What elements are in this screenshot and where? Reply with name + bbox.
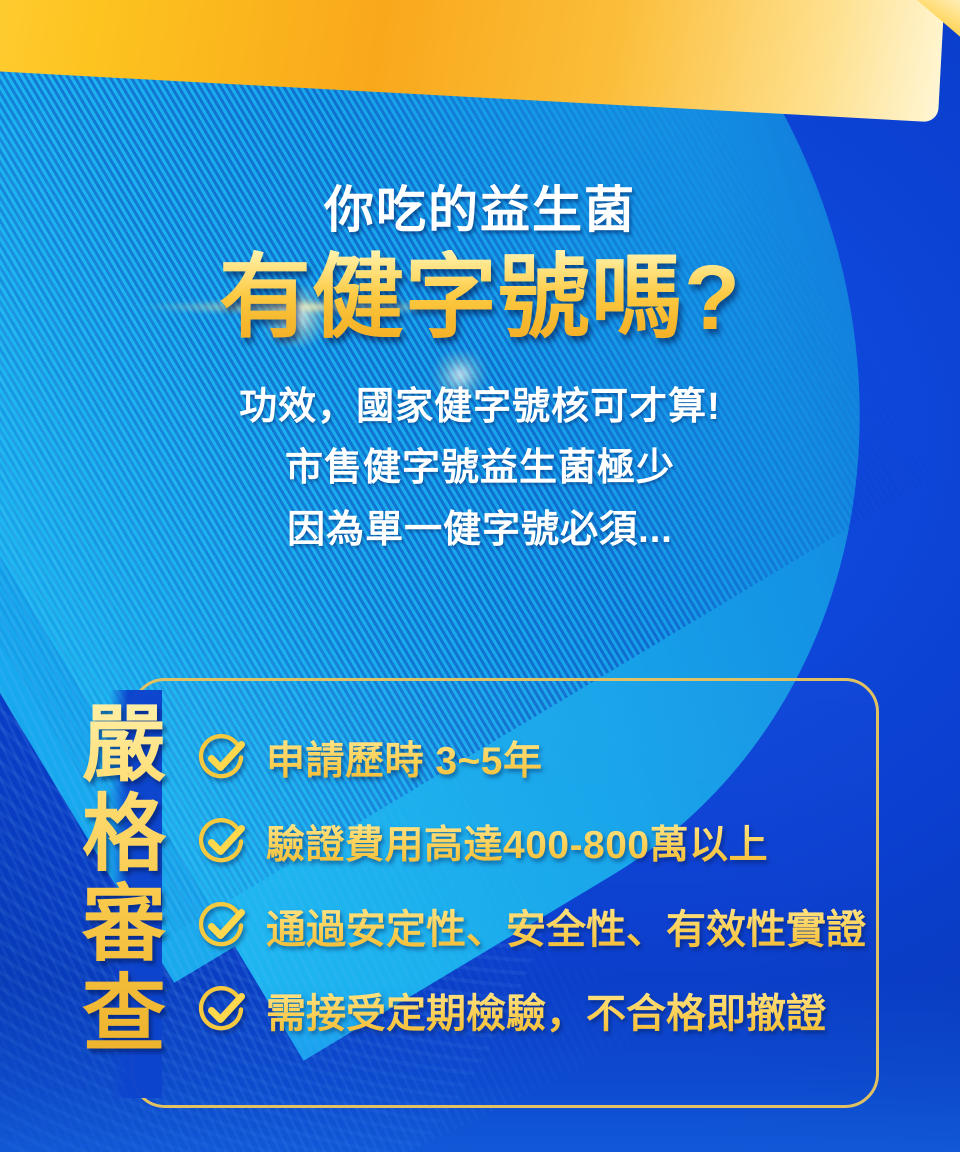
headline-block: 你吃的益生菌 有健字號嗎? 功效，國家健字號核可才算! 市售健字號益生菌極少 因… [0, 182, 960, 561]
check-circle-icon [196, 983, 250, 1037]
gold-corner-flash-decoration [898, 0, 960, 40]
subtitle-line-2: 市售健字號益生菌極少 [0, 438, 960, 500]
list-item: 通過安定性、安全性、有效性實證 [196, 884, 866, 968]
check-circle-icon [196, 899, 250, 953]
subtitle-line-3: 因為單一健字號必須... [0, 500, 960, 562]
check-circle-icon [196, 731, 250, 785]
list-item-label: 申請歷時 3~5年 [266, 730, 543, 786]
vertical-label-strict-review: 嚴 格 審 查 [68, 700, 180, 1060]
gold-band-decoration [0, 0, 949, 122]
check-circle-icon [196, 815, 250, 869]
list-item: 驗證費用高達400-800萬以上 [196, 800, 866, 884]
list-item-label: 需接受定期檢驗，不合格即撤證 [266, 981, 826, 1039]
criteria-list: 申請歷時 3~5年 驗證費用高達400-800萬以上 通過安定性、安全性、有效性… [196, 716, 866, 1052]
list-item: 需接受定期檢驗，不合格即撤證 [196, 968, 866, 1052]
subtitle-block: 功效，國家健字號核可才算! 市售健字號益生菌極少 因為單一健字號必須... [0, 377, 960, 562]
headline-hero: 有健字號嗎? [0, 250, 960, 347]
list-item-label: 驗證費用高達400-800萬以上 [266, 814, 768, 870]
subtitle-line-1: 功效，國家健字號核可才算! [0, 377, 960, 439]
vertical-label-char-4: 查 [68, 970, 180, 1060]
list-item: 申請歷時 3~5年 [196, 716, 866, 800]
list-item-label: 通過安定性、安全性、有效性實證 [266, 897, 866, 955]
gold-band-highlight-decoration [0, 0, 949, 120]
vertical-label-char-3: 審 [68, 880, 180, 970]
vertical-label-char-1: 嚴 [68, 700, 180, 790]
promo-poster: 你吃的益生菌 有健字號嗎? 功效，國家健字號核可才算! 市售健字號益生菌極少 因… [0, 0, 960, 1152]
headline-kicker: 你吃的益生菌 [0, 182, 960, 238]
vertical-label-char-2: 格 [68, 790, 180, 880]
